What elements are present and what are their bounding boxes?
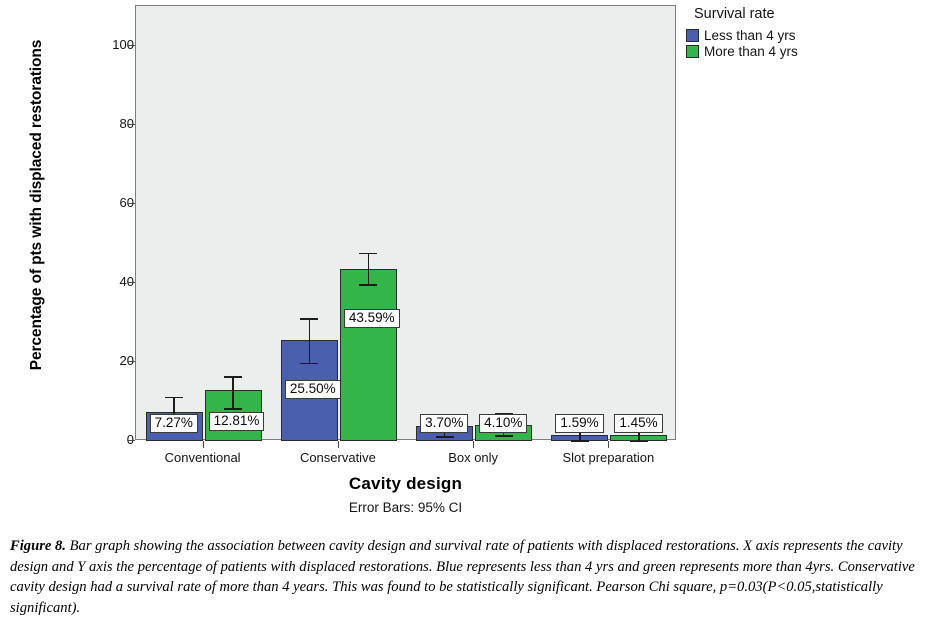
figure-root: Percentage of pts with displaced restora… <box>0 0 947 611</box>
legend-swatch <box>686 45 699 58</box>
y-tick-mark <box>128 124 135 125</box>
y-tick-mark <box>128 203 135 204</box>
error-bar-cap-upper <box>165 397 183 399</box>
y-tick-mark <box>128 361 135 362</box>
error-bar-cap-lower <box>436 436 454 438</box>
error-bar-note: Error Bars: 95% CI <box>135 500 676 515</box>
error-bar-cap-lower <box>300 363 318 365</box>
data-label: 3.70% <box>420 414 468 433</box>
bar-1-1 <box>340 269 397 441</box>
y-tick-mark <box>128 440 135 441</box>
legend-swatch <box>686 29 699 42</box>
x-tick-mark <box>608 441 609 448</box>
x-tick-mark <box>473 441 474 448</box>
figure-number: Figure 8. <box>10 538 66 554</box>
legend-label: More than 4 yrs <box>704 44 798 59</box>
x-axis-title: Cavity design <box>135 474 676 494</box>
chart-block: Percentage of pts with displaced restora… <box>0 0 947 515</box>
chart-legend: Survival rate Less than 4 yrsMore than 4… <box>686 6 936 60</box>
error-bar-cap-lower <box>630 441 648 443</box>
error-bar-cap-upper <box>359 253 377 255</box>
legend-item-1: More than 4 yrs <box>686 44 936 59</box>
x-tick-mark <box>338 441 339 448</box>
plot-area: 7.27%12.81%25.50%43.59%3.70%4.10%1.59%1.… <box>135 5 676 440</box>
y-tick-mark <box>128 282 135 283</box>
x-category-label: Slot preparation <box>528 450 688 465</box>
error-bar-cap-lower <box>224 408 242 410</box>
data-label: 25.50% <box>285 380 341 399</box>
y-axis-title: Percentage of pts with displaced restora… <box>28 0 46 420</box>
data-label: 7.27% <box>150 414 198 433</box>
error-bar-stem <box>232 376 234 408</box>
error-bar-stem <box>368 253 370 285</box>
error-bar-stem <box>309 318 311 362</box>
data-label: 43.59% <box>344 309 400 328</box>
legend-item-0: Less than 4 yrs <box>686 28 936 43</box>
legend-label: Less than 4 yrs <box>704 28 796 43</box>
data-label: 1.45% <box>614 414 662 433</box>
error-bar-cap-lower <box>571 440 589 442</box>
caption-text: Bar graph showing the association betwee… <box>10 538 915 616</box>
error-bar-cap-upper <box>224 376 242 378</box>
error-bar-cap-lower <box>359 284 377 286</box>
error-bar-cap-lower <box>495 435 513 437</box>
error-bar-cap-upper <box>300 318 318 320</box>
x-tick-mark <box>203 441 204 448</box>
data-label: 12.81% <box>209 412 265 431</box>
data-label: 1.59% <box>555 414 603 433</box>
legend-rows: Less than 4 yrsMore than 4 yrs <box>686 28 936 59</box>
y-tick-mark <box>128 45 135 46</box>
data-label: 4.10% <box>479 414 527 433</box>
figure-caption: Figure 8. Bar graph showing the associat… <box>10 536 938 618</box>
legend-title: Survival rate <box>694 6 936 22</box>
